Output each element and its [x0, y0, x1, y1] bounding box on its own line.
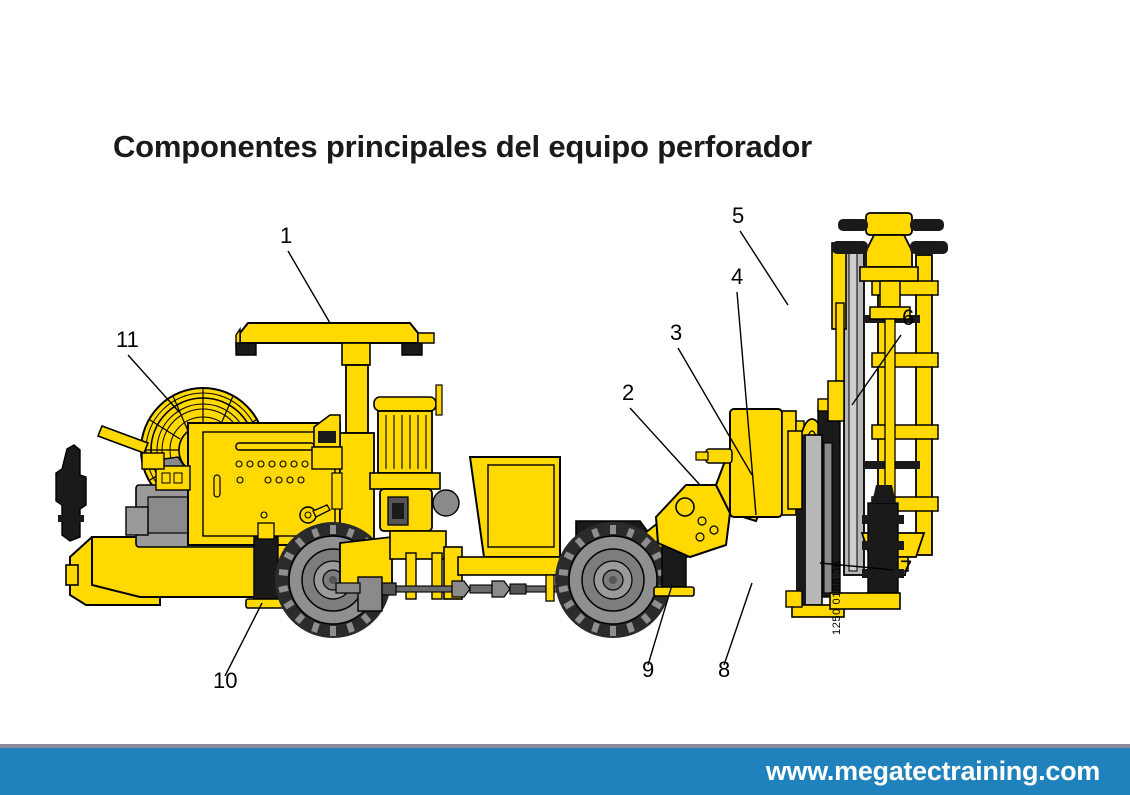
callout-number-9: 9: [642, 657, 654, 682]
callout-number-1: 1: [280, 223, 292, 248]
callout-number-2: 2: [622, 380, 634, 405]
feed-and-drill-tower: [786, 213, 948, 617]
leader-line-8: [724, 583, 752, 665]
footer-bar: www.megatectraining.com: [0, 748, 1130, 795]
callout-number-10: 10: [213, 668, 237, 693]
callout-number-4: 4: [731, 264, 743, 289]
callout-number-6: 6: [902, 305, 914, 330]
drill-rig-illustration: 1250 0188 36 1: [56, 203, 948, 693]
callout-number-5: 5: [732, 203, 744, 228]
callout-number-8: 8: [718, 657, 730, 682]
leader-line-1: [288, 251, 330, 323]
callout-number-7: 7: [900, 556, 912, 581]
leader-line-2: [630, 408, 700, 485]
leader-line-11: [128, 355, 180, 413]
drilling-rig-diagram: 1250 0188 36 1: [40, 185, 1100, 715]
compressor-tank: [370, 385, 459, 531]
page-title: Componentes principales del equipo perfo…: [113, 129, 812, 165]
callout-number-11: 11: [116, 327, 139, 352]
left-hydraulic-hose: [56, 445, 86, 541]
rear-wheel: [555, 522, 671, 638]
part-number-label: 1250 0188 36: [831, 561, 843, 636]
leader-line-10: [225, 603, 262, 676]
leader-line-5: [740, 231, 788, 305]
callout-number-3: 3: [670, 320, 682, 345]
slide-page: Componentes principales del equipo perfo…: [0, 0, 1130, 795]
website-url[interactable]: www.megatectraining.com: [766, 756, 1100, 787]
